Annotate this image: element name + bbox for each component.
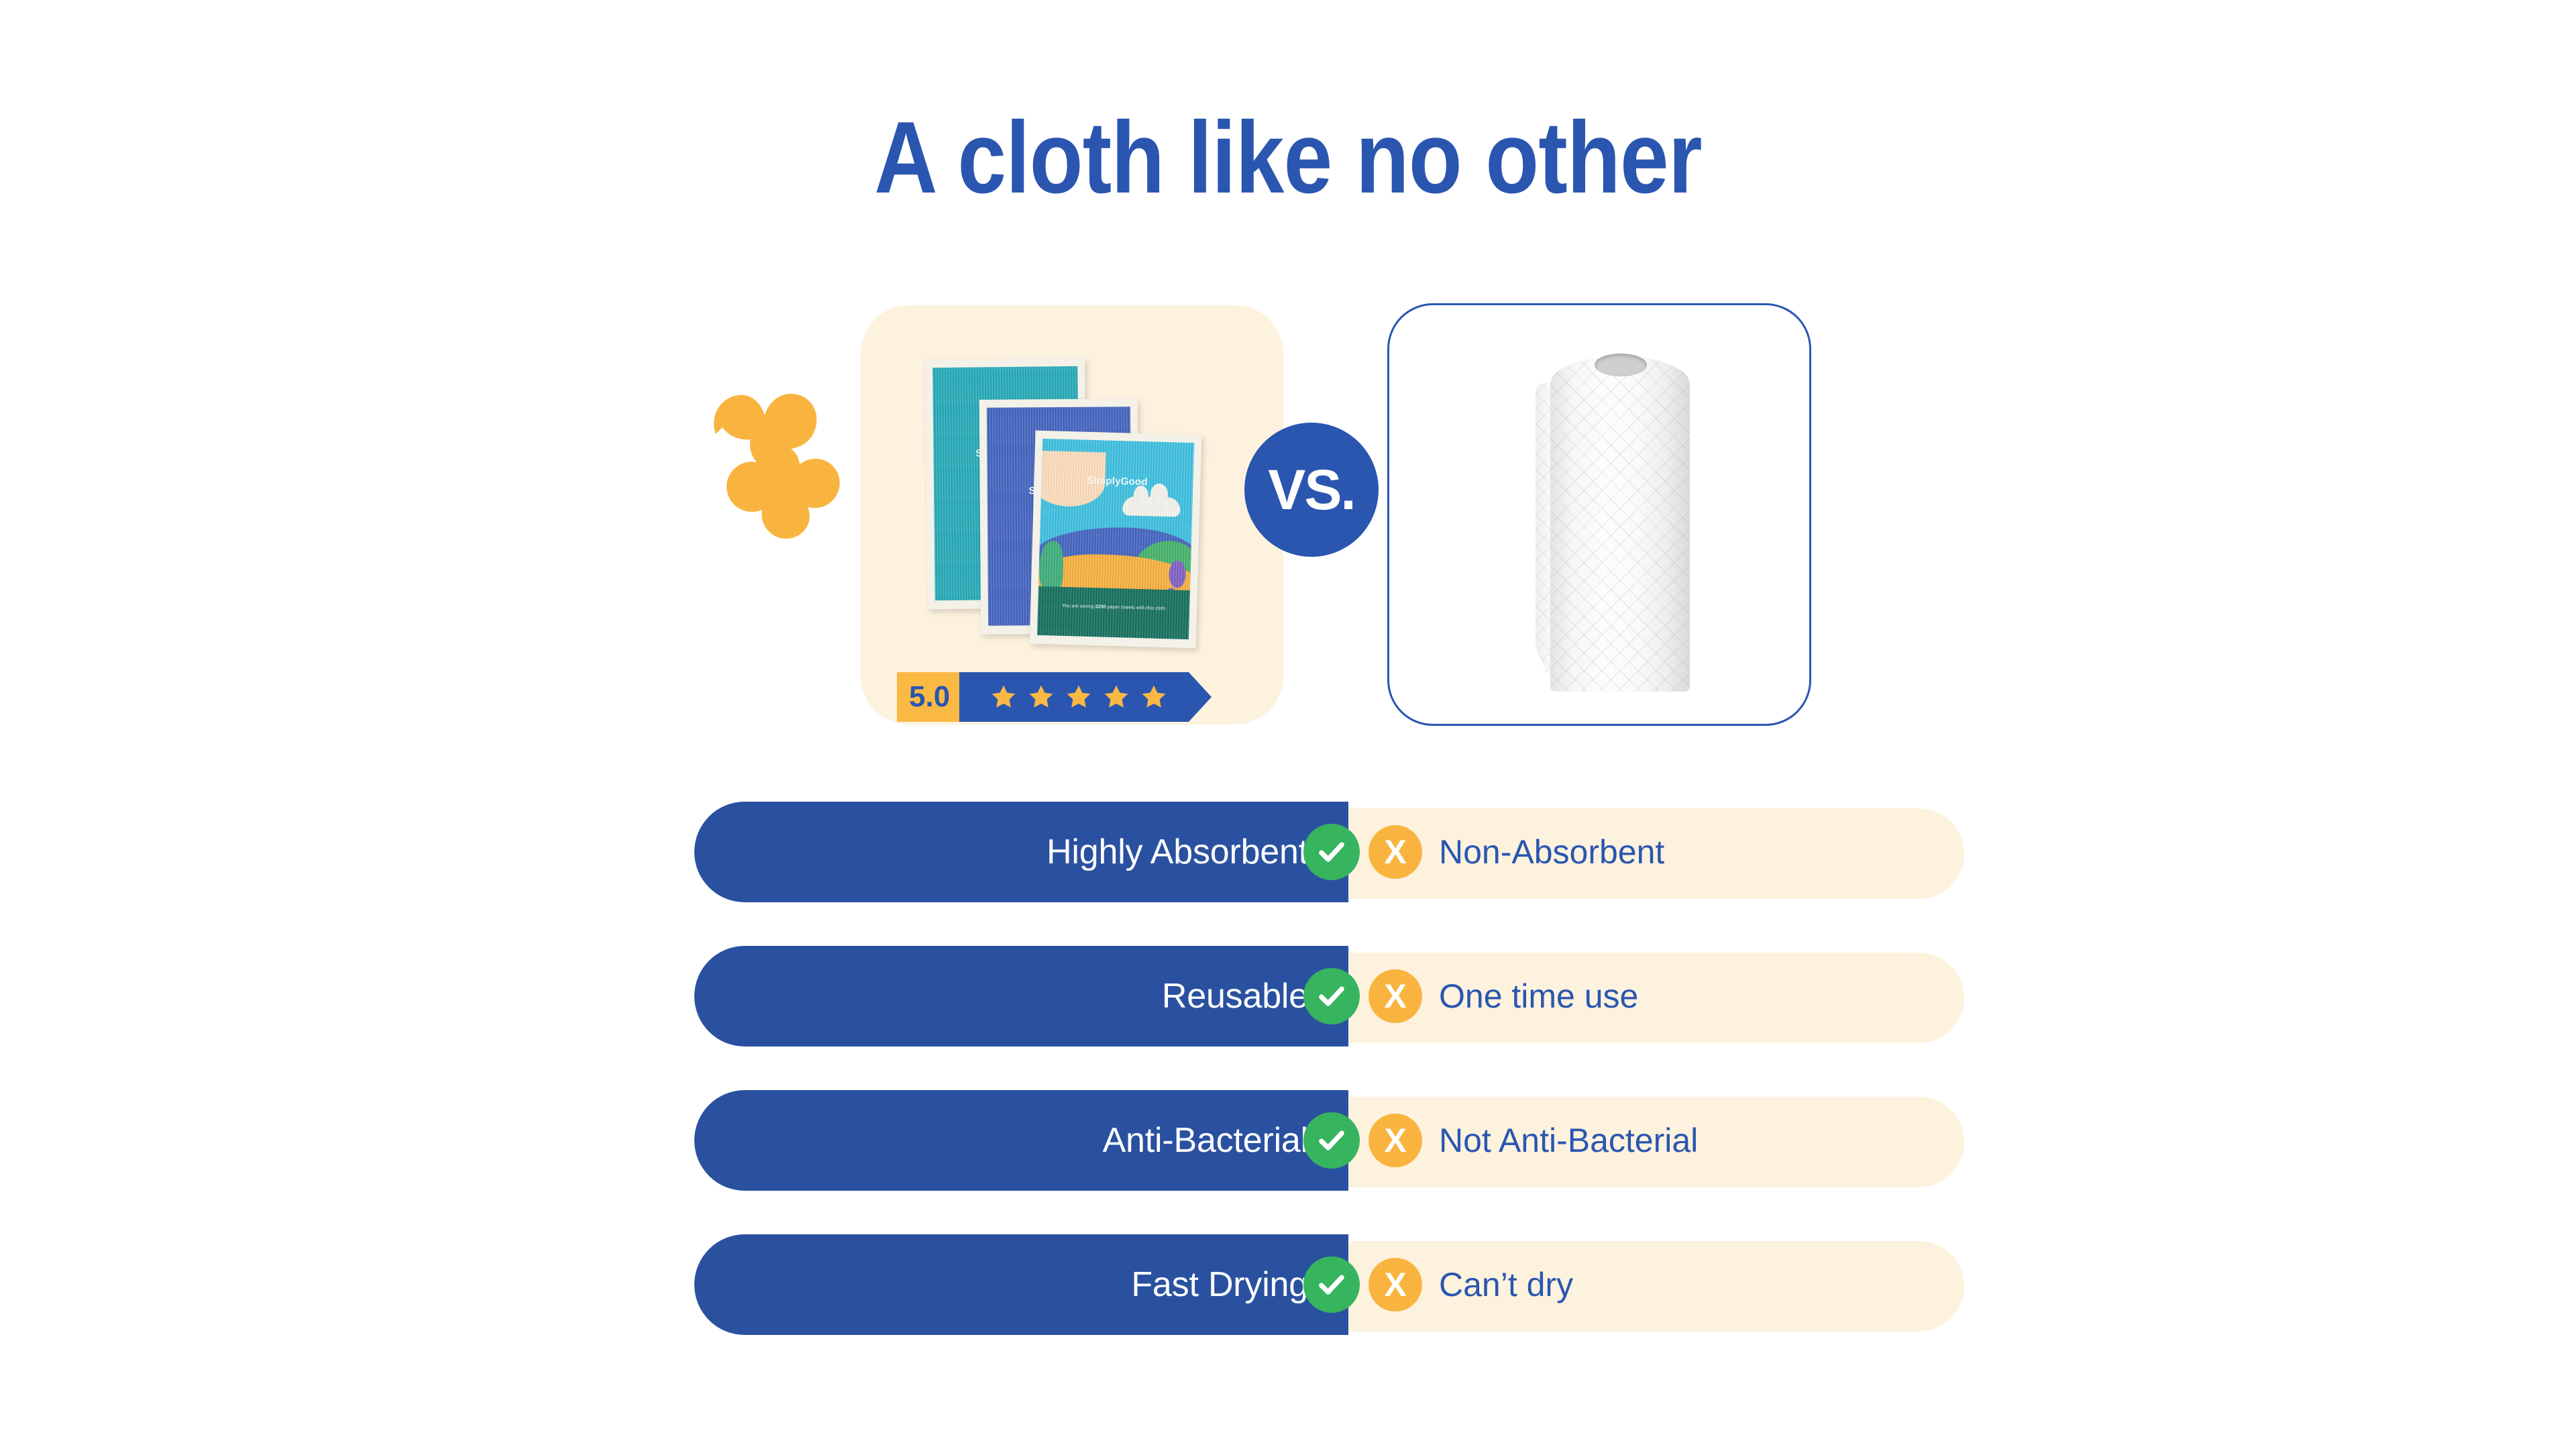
savings-value: 2250 <box>1095 604 1106 609</box>
row-pro-label: Highly Absorbent <box>1046 832 1308 872</box>
row-pro-label: Fast Drying <box>1131 1265 1308 1305</box>
star-icon <box>1102 682 1131 712</box>
towel-core <box>1595 354 1647 376</box>
comparison-row: Highly Absorbent X Non-Absorbent <box>694 802 1982 902</box>
product-card: SimplyGood SimplyGood <box>861 305 1283 724</box>
star-icon <box>1064 682 1093 712</box>
row-pro-panel: Fast Drying <box>694 1234 1348 1335</box>
x-icon: X <box>1368 969 1422 1023</box>
vs-badge: VS. <box>1244 423 1379 557</box>
row-pro-panel: Reusable <box>694 946 1348 1046</box>
hero-section: SimplyGood SimplyGood <box>0 288 2576 745</box>
savings-prefix: You are saving <box>1062 604 1095 609</box>
x-icon: X <box>1368 1114 1422 1167</box>
star-icon <box>1026 682 1056 712</box>
cloth-stack: SimplyGood SimplyGood <box>901 358 1250 646</box>
row-con-label: Not Anti-Bacterial <box>1439 1121 1698 1160</box>
check-icon <box>1303 824 1360 880</box>
check-icon <box>1303 968 1360 1024</box>
towel-body <box>1550 356 1690 692</box>
row-pro-panel: Highly Absorbent <box>694 802 1348 902</box>
comparison-list: Highly Absorbent X Non-Absorbent Reusabl… <box>694 802 1982 1379</box>
cloth-front: SimplyGood You are saving 2250 paper tow… <box>1030 431 1202 649</box>
row-pro-label: Reusable <box>1162 976 1308 1016</box>
leaf-icon <box>686 370 887 592</box>
rating-score: 5.0 <box>897 672 959 722</box>
competitor-card <box>1387 303 1811 726</box>
row-con-label: Can’t dry <box>1439 1265 1573 1304</box>
comparison-row: Fast Drying X Can’t dry <box>694 1234 1982 1335</box>
cloth-art-cloud <box>1122 496 1181 517</box>
page-title: A cloth like no other <box>180 99 2396 217</box>
star-icon <box>989 682 1018 712</box>
x-icon: X <box>1368 1258 1422 1311</box>
star-icon <box>1139 682 1169 712</box>
rating-badge: 5.0 <box>897 672 1189 722</box>
check-icon <box>1303 1112 1360 1169</box>
row-pro-panel: Anti-Bacterial <box>694 1090 1348 1191</box>
infographic-page: A cloth like no other SimplyGood SimplyG… <box>0 0 2576 1449</box>
cloth-art-ground <box>1037 586 1190 640</box>
row-con-label: One time use <box>1439 977 1638 1016</box>
comparison-row: Anti-Bacterial X Not Anti-Bacterial <box>694 1090 1982 1191</box>
row-con-label: Non-Absorbent <box>1439 833 1664 871</box>
check-icon <box>1303 1256 1360 1313</box>
comparison-row: Reusable X One time use <box>694 946 1982 1046</box>
rating-stars <box>959 672 1189 722</box>
paper-towel-roll-image <box>1522 341 1690 692</box>
x-icon: X <box>1368 825 1422 879</box>
row-pro-label: Anti-Bacterial <box>1103 1120 1308 1161</box>
